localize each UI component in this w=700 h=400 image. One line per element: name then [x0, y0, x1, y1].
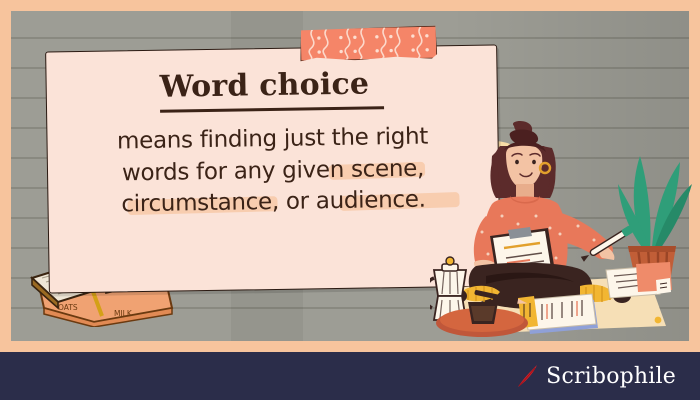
washi-tape-icon	[300, 26, 438, 62]
body-line-3: circumstance, or audience.	[118, 185, 430, 222]
footer-bar: Scribophile	[0, 352, 700, 400]
woman-writing-illustration	[430, 120, 695, 345]
brand-logo[interactable]: Scribophile	[515, 363, 676, 389]
book-spine-label-right: MILK	[114, 309, 133, 318]
brand-name: Scribophile	[546, 364, 676, 389]
poster-root: Word choice means finding just the right…	[0, 0, 700, 400]
card-title-group: Word choice	[159, 69, 384, 113]
card-body: means finding just the right words for a…	[117, 122, 430, 222]
body-line-1: means finding just the right	[117, 122, 429, 159]
page-title: Word choice	[159, 69, 384, 108]
body-line-2: words for any given scene,	[117, 153, 429, 190]
red-quill-nib-icon	[515, 363, 541, 389]
book-spine-label-left: OATS	[58, 303, 78, 312]
